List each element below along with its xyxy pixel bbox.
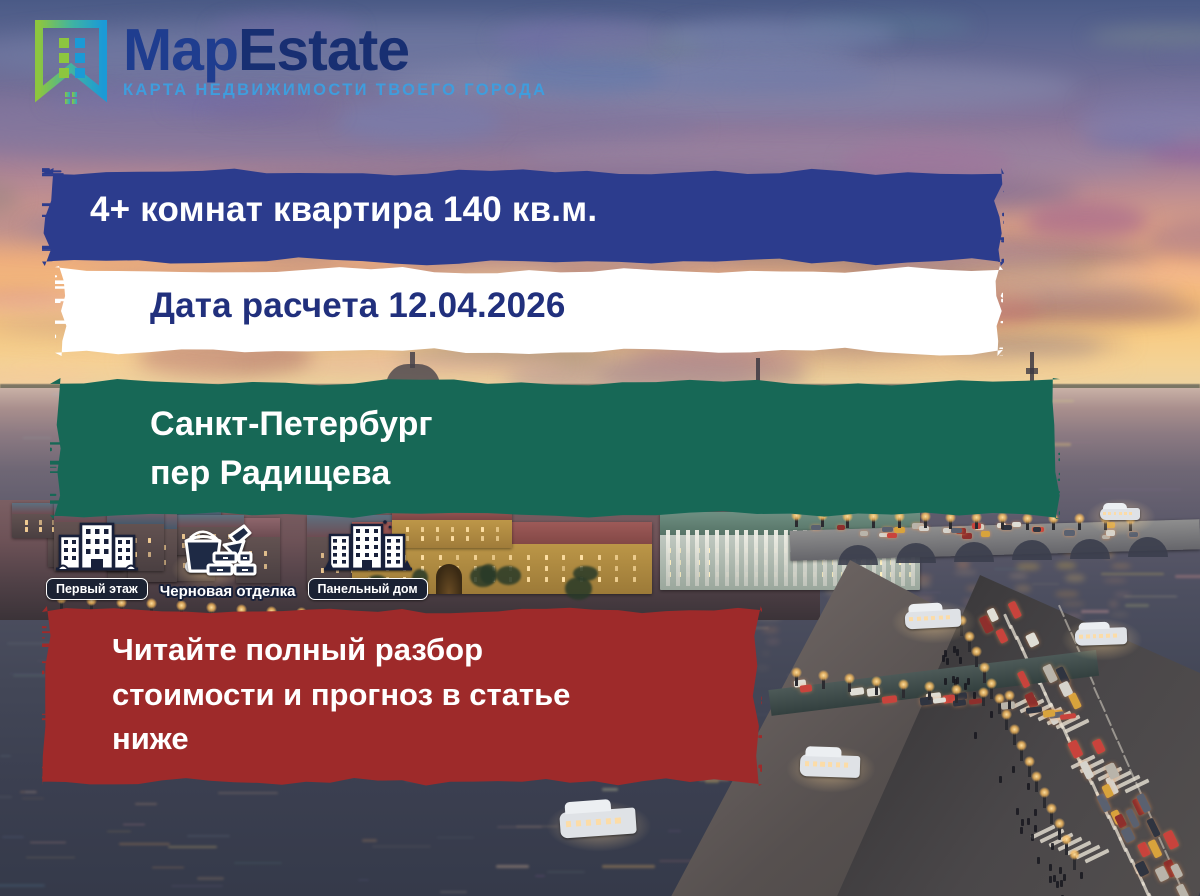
cta-banner-text: Читайте полный разбор стоимости и прогно…	[42, 606, 762, 762]
brand-logo[interactable]: MapEstate КАРТА НЕДВИЖИМОСТИ ТВОЕГО ГОРО…	[35, 20, 547, 106]
address-street: пер Радищева	[150, 449, 1060, 498]
brand-name-map: Map	[123, 17, 238, 83]
address-banner-text: Санкт-Петербург пер Радищева	[50, 378, 1060, 498]
cta-banner: Читайте полный разбор стоимости и прогно…	[42, 606, 762, 786]
feature-rough-finish[interactable]: Черновая отделка	[160, 523, 296, 600]
brand-tagline: КАРТА НЕДВИЖИМОСТИ ТВОЕГО ГОРОДА	[123, 81, 547, 100]
brand-name: MapEstate	[123, 22, 547, 78]
building-low-rise-icon	[54, 518, 140, 576]
address-banner: Санкт-Петербург пер Радищева	[50, 378, 1060, 519]
paint-bucket-trowel-bricks-icon	[178, 523, 278, 581]
date-banner-text: Дата расчета 12.04.2026	[55, 266, 1003, 326]
feature-label: Панельный дом	[308, 578, 428, 600]
rooms-banner: 4+ комнат квартира 140 кв.м.	[42, 168, 1004, 266]
feature-first-floor[interactable]: Первый этаж	[46, 518, 148, 600]
rooms-banner-text: 4+ комнат квартира 140 кв.м.	[42, 168, 1004, 230]
date-banner: Дата расчета 12.04.2026	[55, 266, 1003, 356]
brand-name-estate: Estate	[238, 17, 409, 83]
brand-wordmark: MapEstate КАРТА НЕДВИЖИМОСТИ ТВОЕГО ГОРО…	[123, 22, 547, 100]
cta-line-3: ниже	[112, 717, 762, 762]
cta-line-2: стоимости и прогноз в статье	[112, 673, 762, 718]
panel-high-rise-icon	[322, 518, 414, 576]
feature-badges: Первый этаж	[46, 518, 428, 600]
feature-panel-house[interactable]: Панельный дом	[308, 518, 428, 600]
poster: MapEstate КАРТА НЕДВИЖИМОСТИ ТВОЕГО ГОРО…	[0, 0, 1200, 896]
cta-line-1: Читайте полный разбор	[112, 628, 762, 673]
address-city: Санкт-Петербург	[150, 400, 1060, 449]
feature-label: Черновая отделка	[160, 583, 296, 600]
feature-label: Первый этаж	[46, 578, 148, 600]
bookmark-building-icon	[35, 20, 107, 106]
